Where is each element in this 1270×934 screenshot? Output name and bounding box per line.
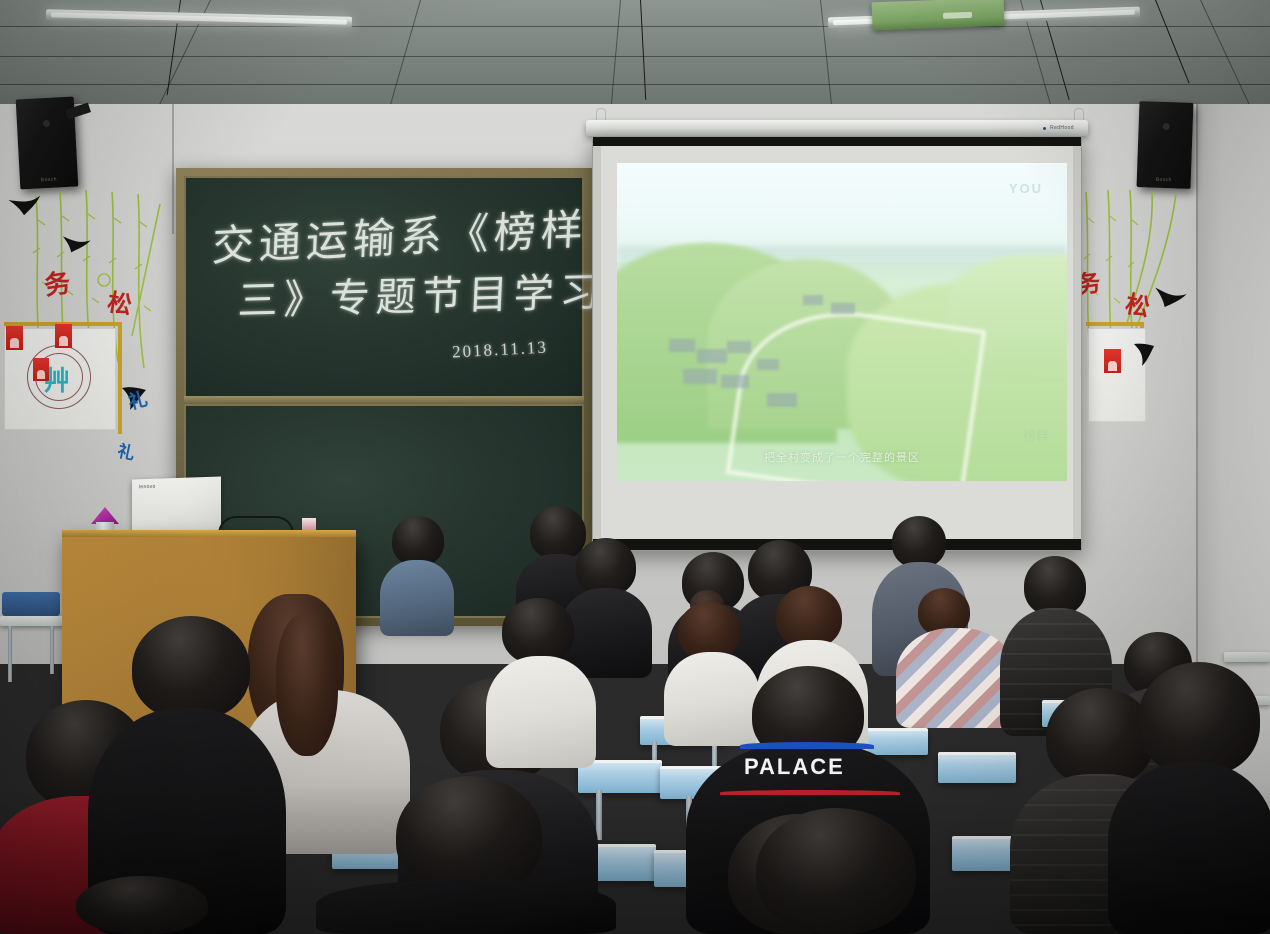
audience-person-front-right-3: [1108, 662, 1270, 934]
audience-person-front-center: [316, 776, 616, 934]
palace-jacket-text: PALACE: [744, 754, 845, 780]
swallow-icon-2: [59, 232, 97, 258]
video-village-house-4: [683, 369, 717, 384]
ceiling-projector: [872, 0, 1005, 30]
speaker-driver-left: [43, 119, 50, 126]
head: [756, 808, 916, 934]
video-watermark-topright: YOU: [1009, 181, 1043, 196]
palace-red-stripe: [720, 790, 900, 795]
side-desk-right: [1224, 652, 1270, 662]
swallow-icon-right-2: [1130, 340, 1156, 368]
podium-top-edge: [62, 530, 356, 537]
lantern-left-1: [6, 326, 23, 350]
desk-row-front-3: [938, 752, 1016, 783]
wall-char-left-1: 务: [42, 262, 73, 302]
side-desk-leg-1: [8, 626, 12, 682]
head: [132, 616, 250, 720]
torso: [316, 880, 616, 934]
lantern-right-1: [1104, 349, 1121, 373]
speaker-right-brand: Bosch: [1137, 176, 1191, 184]
classroom-scene: Bosch Bosch: [0, 0, 1270, 934]
head: [1024, 556, 1086, 616]
projected-video: YOU 榜样 把全村变成了一个完整的景区: [617, 163, 1067, 481]
palace-collar: [740, 742, 874, 749]
video-village-house-1: [669, 339, 695, 352]
screen-brand-dot: [1043, 127, 1046, 130]
torso: [1108, 762, 1270, 934]
blackboard-line-2: 三》专题节目学习: [237, 259, 608, 326]
blackboard-upper-panel: 交通运输系《榜样 三》专题节目学习 2018.11.13: [184, 176, 584, 398]
video-village-house-2: [697, 349, 727, 363]
head: [1138, 662, 1260, 776]
lantern-left-2: [55, 324, 72, 348]
screen-top-border: [593, 137, 1081, 146]
torso: [486, 656, 596, 768]
gold-rail-left-v: [118, 322, 122, 434]
audience-person-front-right-1: [684, 808, 984, 934]
video-village-house-9: [831, 303, 855, 314]
laptop[interactable]: lenovo: [132, 476, 221, 537]
blackboard-date: 2018.11.13: [452, 338, 549, 363]
laptop-brand-label: lenovo: [139, 484, 156, 491]
speaker-driver-right: [1163, 123, 1170, 130]
head: [396, 776, 542, 896]
video-village-house-6: [757, 359, 779, 370]
screen-bottom-border: [593, 539, 1081, 550]
head: [776, 586, 842, 648]
head: [392, 516, 444, 566]
wall-decor-left: 务 松 艸 礼 礼: [0, 186, 178, 486]
video-village-house-3: [727, 341, 751, 353]
side-desk-left: [0, 616, 66, 626]
head: [76, 876, 208, 934]
video-subtitle: 把全村变成了一个完整的景区: [617, 449, 1067, 465]
speaker-left-brand: Bosch: [20, 175, 78, 184]
side-chair-left: [2, 592, 60, 616]
screen-housing: RedHood: [586, 120, 1088, 136]
blackboard-divider: [184, 396, 584, 404]
speaker-right: Bosch: [1137, 101, 1194, 189]
head: [892, 516, 946, 568]
lantern-left-3: [33, 358, 49, 381]
small-box-on-podium[interactable]: [302, 518, 316, 530]
screen-brand-label: RedHood: [1050, 125, 1074, 131]
wall-decor-right: 务 松: [1080, 186, 1196, 476]
audience-person-mid-3: [486, 598, 596, 768]
side-desk-leg-2: [50, 626, 54, 674]
head: [502, 598, 574, 664]
gold-rail-right-h: [1086, 322, 1144, 326]
audience-person-front-bottom-left: [50, 876, 280, 934]
video-watermark-bottomright: 榜样: [1023, 429, 1049, 443]
video-village-house-5: [721, 375, 749, 388]
projection-screen: YOU 榜样 把全村变成了一个完整的景区: [592, 136, 1082, 551]
video-village-house-7: [767, 393, 797, 407]
screen-surface: YOU 榜样 把全村变成了一个完整的景区: [601, 146, 1073, 539]
video-village-house-8: [803, 295, 823, 305]
